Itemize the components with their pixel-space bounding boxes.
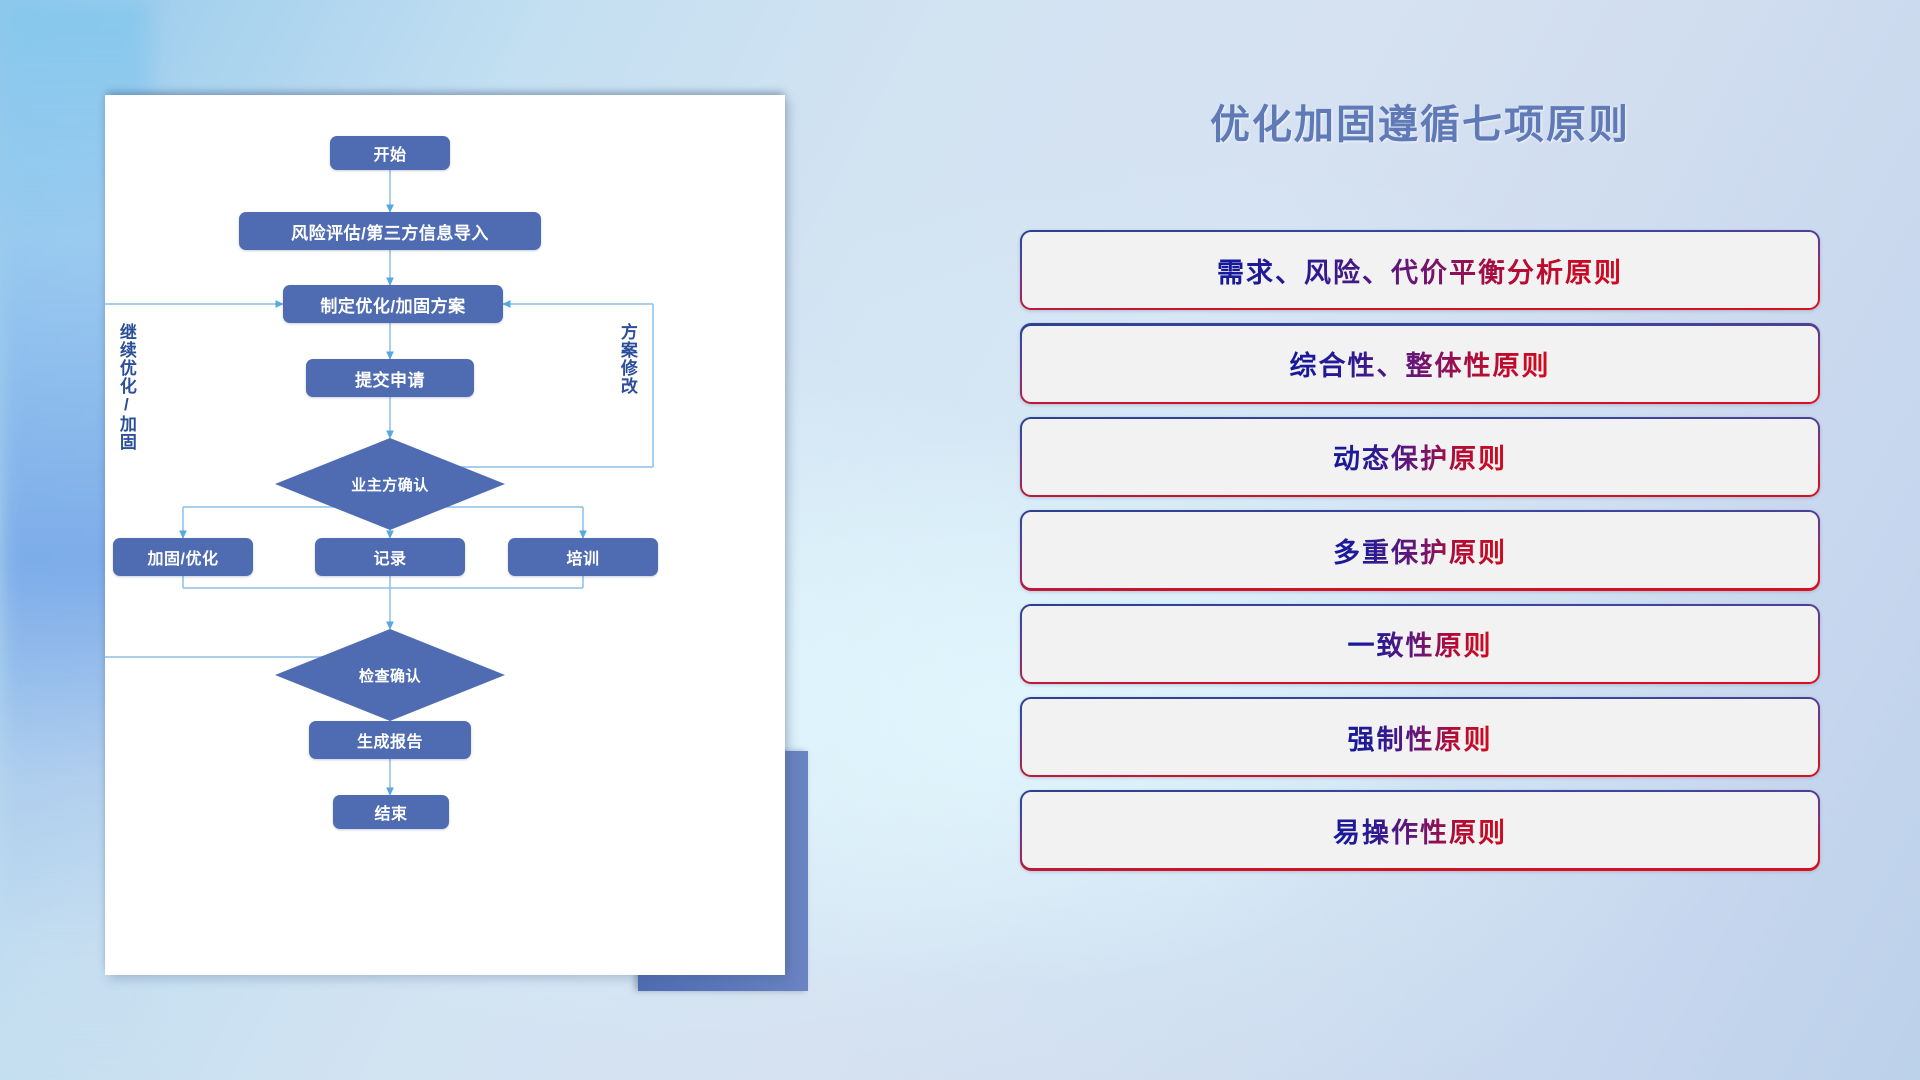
flow-edge-label-continue-optimize: 继续优化/加固 <box>117 323 135 483</box>
principles-panel: 优化加固遵循七项原则 需求、风险、代价平衡分析原则 综合性、整体性原则 动态保护… <box>1020 80 1820 1020</box>
flow-decision-owner-confirm[interactable]: 业主方确认 <box>275 438 505 530</box>
flow-edge-label-plan-revision: 方案修改 <box>618 323 636 453</box>
principle-card[interactable]: 强制性原则 <box>1020 697 1820 777</box>
flow-node-record[interactable]: 记录 <box>315 538 465 576</box>
flowchart: 开始 风险评估/第三方信息导入 制定优化/加固方案 提交申请 业主方确认 加固/… <box>105 95 785 975</box>
principle-label: 易操作性原则 <box>1333 811 1507 850</box>
flow-node-training[interactable]: 培训 <box>508 538 658 576</box>
flow-decision-check-confirm[interactable]: 检查确认 <box>275 629 505 721</box>
flow-decision-owner-label: 业主方确认 <box>275 438 505 530</box>
principle-card-inner: 多重保护原则 <box>1022 512 1818 588</box>
principle-card[interactable]: 综合性、整体性原则 <box>1020 323 1820 403</box>
flow-node-end[interactable]: 结束 <box>333 795 449 829</box>
principle-card-inner: 综合性、整体性原则 <box>1022 326 1818 402</box>
principle-card[interactable]: 一致性原则 <box>1020 604 1820 684</box>
principle-card-inner: 一致性原则 <box>1022 606 1818 682</box>
principle-label: 多重保护原则 <box>1333 531 1507 570</box>
principle-card-inner: 动态保护原则 <box>1022 419 1818 495</box>
flow-node-plan[interactable]: 制定优化/加固方案 <box>283 285 503 323</box>
principle-label: 强制性原则 <box>1348 718 1493 757</box>
principle-card[interactable]: 多重保护原则 <box>1020 510 1820 590</box>
principle-label: 需求、风险、代价平衡分析原则 <box>1217 251 1623 290</box>
flow-node-report[interactable]: 生成报告 <box>309 721 471 759</box>
principle-card[interactable]: 易操作性原则 <box>1020 790 1820 870</box>
flow-node-start[interactable]: 开始 <box>330 136 450 170</box>
principles-card-list: 需求、风险、代价平衡分析原则 综合性、整体性原则 动态保护原则 多重保护原则 <box>1020 230 1820 884</box>
principle-label: 综合性、整体性原则 <box>1290 344 1551 383</box>
principle-label: 一致性原则 <box>1348 624 1493 663</box>
principle-label: 动态保护原则 <box>1333 437 1507 476</box>
slide-background: 开始 风险评估/第三方信息导入 制定优化/加固方案 提交申请 业主方确认 加固/… <box>0 0 1920 1080</box>
principle-card[interactable]: 动态保护原则 <box>1020 417 1820 497</box>
principle-card-inner: 需求、风险、代价平衡分析原则 <box>1022 232 1818 308</box>
principle-card-inner: 易操作性原则 <box>1022 792 1818 868</box>
flow-node-risk-assessment[interactable]: 风险评估/第三方信息导入 <box>239 212 541 250</box>
flow-node-reinforce[interactable]: 加固/优化 <box>113 538 253 576</box>
principle-card[interactable]: 需求、风险、代价平衡分析原则 <box>1020 230 1820 310</box>
flow-node-submit[interactable]: 提交申请 <box>306 359 474 397</box>
principle-card-inner: 强制性原则 <box>1022 699 1818 775</box>
principles-title: 优化加固遵循七项原则 <box>1020 92 1820 150</box>
flow-decision-check-label: 检查确认 <box>275 629 505 721</box>
